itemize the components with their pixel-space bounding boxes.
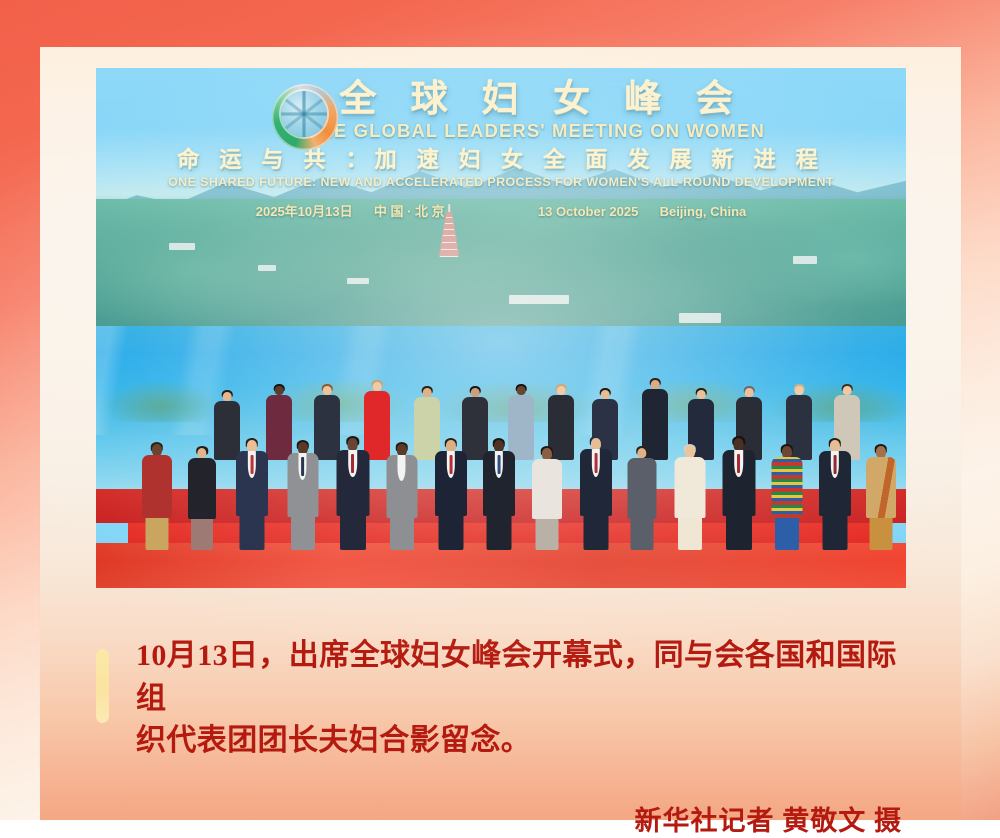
necktie xyxy=(450,455,453,475)
necktie xyxy=(251,455,254,475)
torso xyxy=(386,455,417,518)
lower-body xyxy=(775,518,799,550)
delegate-front xyxy=(722,436,755,550)
torso xyxy=(236,451,268,516)
delegate-front xyxy=(236,438,268,550)
delegate-front xyxy=(627,446,656,550)
summit-emblem-icon xyxy=(272,84,338,150)
delegate-front xyxy=(819,438,851,550)
torso xyxy=(287,453,318,517)
summit-subtitle-en: ONE SHARED FUTURE: NEW AND ACCELERATED P… xyxy=(96,175,906,190)
torso xyxy=(866,457,896,518)
shirt xyxy=(397,455,405,481)
caption-text: 10月13日，出席全球妇女峰会开幕式，同与会各国和国际组 织代表团团长夫妇合影留… xyxy=(136,635,926,763)
poster-card: 全 球 妇 女 峰 会 THE GLOBAL LEADERS' MEETING … xyxy=(40,47,961,820)
photo-credit: 新华社记者 黄敬文 摄 xyxy=(96,799,926,838)
torso xyxy=(142,455,172,518)
lower-body xyxy=(726,516,752,550)
lower-body xyxy=(439,516,464,550)
summit-date-line: 2025年10月13日 中 国 · 北 京 13 October 2025 Be… xyxy=(96,201,906,220)
delegate-front xyxy=(287,440,318,550)
group-photograph: 全 球 妇 女 峰 会 THE GLOBAL LEADERS' MEETING … xyxy=(96,68,906,588)
lower-body xyxy=(870,518,893,550)
date-en: 13 October 2025 xyxy=(538,204,638,219)
lower-body xyxy=(340,516,366,550)
delegate-front xyxy=(435,438,467,550)
summit-banner: 全 球 妇 女 峰 会 THE GLOBAL LEADERS' MEETING … xyxy=(96,78,906,220)
lower-body xyxy=(240,516,265,550)
torso xyxy=(435,451,467,516)
delegate-front xyxy=(142,442,172,550)
lower-body xyxy=(678,518,702,550)
caption-accent-bar xyxy=(96,649,109,723)
delegate-front xyxy=(771,444,802,550)
delegate-front xyxy=(386,442,417,550)
lower-body xyxy=(146,518,169,550)
torso xyxy=(188,458,216,519)
torso xyxy=(771,457,802,518)
delegate-front xyxy=(336,436,369,550)
lower-body xyxy=(291,517,315,550)
lower-body xyxy=(823,516,848,550)
torso xyxy=(819,451,851,516)
summit-subtitle-cn: 命 运 与 共 ：加 速 妇 女 全 面 发 展 新 进 程 xyxy=(96,147,906,173)
delegate-front xyxy=(674,444,705,550)
place-cn: 中 国 · 北 京 xyxy=(374,204,445,219)
necktie xyxy=(498,455,501,475)
delegate-front xyxy=(866,444,896,550)
summit-title-cn: 全 球 妇 女 峰 会 xyxy=(96,78,906,119)
lower-body xyxy=(390,518,414,550)
news-photo-poster: 全 球 妇 女 峰 会 THE GLOBAL LEADERS' MEETING … xyxy=(0,0,1000,820)
delegate-front xyxy=(483,438,515,550)
lower-body xyxy=(584,516,609,550)
lower-body xyxy=(191,519,213,550)
delegate-front xyxy=(532,446,562,550)
lower-body xyxy=(487,516,512,550)
necktie xyxy=(737,454,740,474)
torso xyxy=(674,457,705,518)
necktie xyxy=(351,454,354,474)
delegate-front xyxy=(580,436,612,550)
lower-body xyxy=(630,519,653,550)
torso xyxy=(483,451,515,516)
necktie xyxy=(834,455,837,475)
head xyxy=(733,438,744,450)
caption-line-1: 10月13日，出席全球妇女峰会开幕式，同与会各国和国际组 xyxy=(136,635,926,720)
torso xyxy=(722,450,755,516)
caption-line-2: 织代表团团长夫妇合影留念。 xyxy=(136,720,926,763)
date-cn: 2025年10月13日 xyxy=(256,204,353,219)
place-en: Beijing, China xyxy=(660,204,747,219)
torso xyxy=(336,450,369,516)
summit-title-en: THE GLOBAL LEADERS' MEETING ON WOMEN xyxy=(96,120,906,141)
necktie xyxy=(301,457,304,476)
torso xyxy=(627,458,656,519)
necktie xyxy=(595,453,598,473)
torso xyxy=(532,459,562,519)
caption-block: 10月13日，出席全球妇女峰会开幕式，同与会各国和国际组 织代表团团长夫妇合影留… xyxy=(96,635,926,838)
head xyxy=(347,438,358,450)
torso xyxy=(580,449,612,516)
delegate-front xyxy=(188,446,216,550)
lower-body xyxy=(536,519,559,550)
